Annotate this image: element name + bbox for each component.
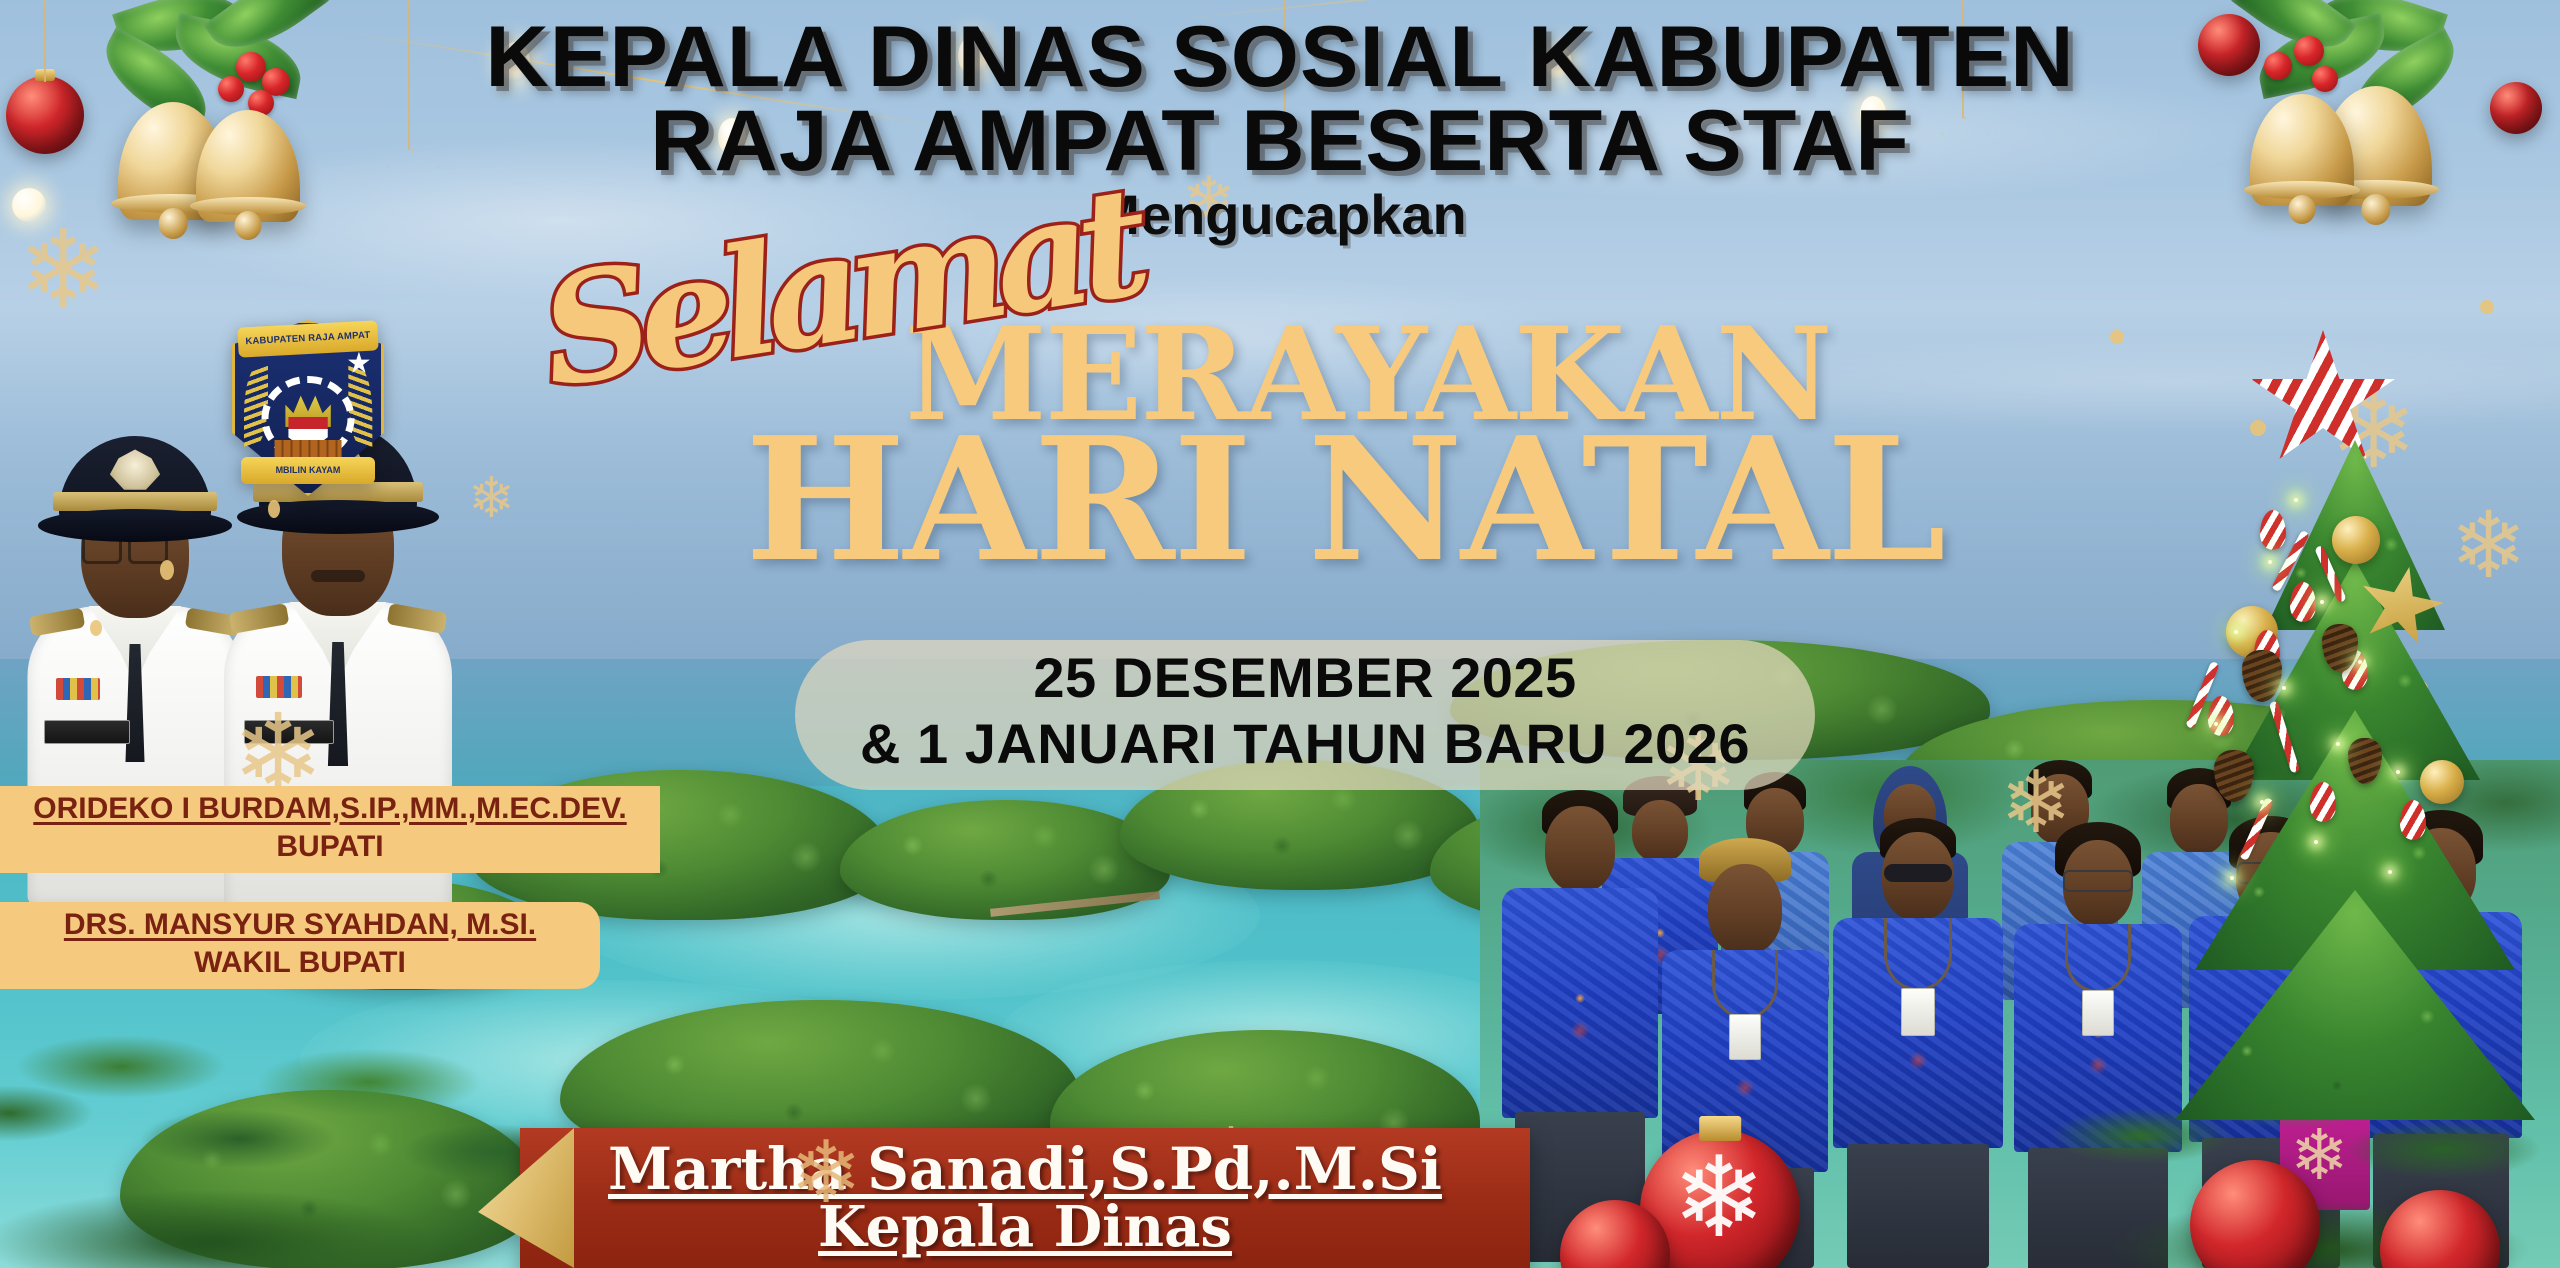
hanging-string (408, 0, 410, 150)
person-glasses (2063, 870, 2133, 892)
person-sunglasses (1884, 864, 1952, 882)
person-lanyard (1712, 950, 1778, 1019)
official-role: BUPATI (10, 830, 650, 864)
holly-berry (2312, 66, 2338, 92)
person-trousers (1847, 1144, 1989, 1268)
heading-subline: Mengucapkan (1093, 182, 1466, 247)
person-glasses (2237, 862, 2305, 884)
cap-brim (38, 509, 233, 542)
holly-berry (2294, 36, 2324, 66)
gold-title-hari-natal: HARI NATAL (745, 400, 1944, 600)
gold-confetti-dot (2480, 300, 2494, 314)
official-role: WAKIL BUPATI (10, 946, 590, 980)
snowflake-icon: ❄ (2000, 760, 2072, 846)
hanging-string (44, 0, 46, 82)
person-id-card (2082, 990, 2114, 1036)
official-name: ORIDEKO I BURDAM,S.IP.,MM.,M.EC.DEV. (10, 792, 650, 826)
portrait-moustache (311, 570, 365, 582)
snowflake-icon: ❄ (2450, 500, 2527, 592)
portrait-peaked-cap (59, 436, 211, 532)
person-shirt (1502, 888, 1658, 1118)
snowflake-icon: ❄ (1672, 1142, 1766, 1254)
top-right-decor-cluster (2130, 0, 2560, 290)
cap-garuda-crest (108, 449, 163, 489)
heading-line-2: RAJA AMPAT BESERTA STAF (650, 92, 1910, 191)
cap-band (53, 492, 217, 511)
raja-ampat-regency-emblem: KABUPATEN RAJA AMPAT MBILIN KAYAM (232, 320, 384, 496)
emblem-bottom-banner: MBILIN KAYAM (241, 457, 375, 483)
person-face (1545, 806, 1615, 892)
gold-confetti-dot (268, 500, 280, 518)
signatory-text-block: Martha Sanadi,S.Pd,.M.Si Kepala Dinas (520, 1128, 1530, 1268)
date-line-2: & 1 JANUARI TAHUN BARU 2026 (795, 711, 1815, 777)
staff-person (1830, 818, 2005, 1268)
snowflake-icon: ❄ (790, 1130, 862, 1216)
official-plate-wakil-bupati: DRS. MANSYUR SYAHDAN, M.SI. WAKIL BUPATI (0, 902, 600, 989)
snowflake-icon: ❄ (18, 216, 109, 324)
bell-clapper (2361, 194, 2390, 225)
person-id-card (1729, 1014, 1761, 1060)
official-name: DRS. MANSYUR SYAHDAN, M.SI. (10, 908, 590, 942)
red-ornament-ball (2198, 14, 2260, 76)
signatory-name: Martha Sanadi,S.Pd,.M.Si (608, 1140, 1442, 1199)
bottom-left-pine-foliage (0, 1010, 580, 1268)
bell-clapper (159, 208, 188, 239)
person-lanyard (2065, 924, 2131, 993)
official-plate-bupati: ORIDEKO I BURDAM,S.IP.,MM.,M.EC.DEV. BUP… (0, 786, 660, 873)
signatory-role: Kepala Dinas (818, 1199, 1232, 1256)
bell-clapper (234, 211, 261, 240)
snowflake-icon: ❄ (468, 470, 515, 526)
gold-confetti-dot (2410, 680, 2428, 698)
gold-confetti-dot (2110, 330, 2124, 344)
date-text-block: 25 DESEMBER 2025 & 1 JANUARI TAHUN BARU … (795, 645, 1815, 777)
snowflake-icon: ❄ (2290, 1120, 2349, 1190)
christmas-greeting-banner: KABUPATEN RAJA AMPAT MBILIN KAYAM (0, 0, 2560, 1268)
person-face (1708, 864, 1782, 954)
person-face (2406, 828, 2476, 914)
red-ornament-ball (6, 76, 84, 154)
person-id-card (1901, 988, 1935, 1036)
bell-clapper (2288, 195, 2315, 224)
holly-berry (2264, 52, 2292, 80)
holly-berry (218, 76, 244, 102)
snowflake-icon: ❄ (2330, 380, 2417, 484)
cap-brim (237, 500, 439, 534)
person-lanyard (1884, 918, 1952, 991)
gold-confetti-dot (2250, 420, 2266, 436)
gold-confetti-dot (90, 620, 102, 636)
portrait-ribbon-bar (56, 678, 100, 700)
red-ornament-ball (2490, 82, 2542, 134)
gold-confetti-dot (160, 560, 174, 580)
portrait-nameplate-badge (44, 720, 130, 744)
date-line-1: 25 DESEMBER 2025 (795, 645, 1815, 711)
